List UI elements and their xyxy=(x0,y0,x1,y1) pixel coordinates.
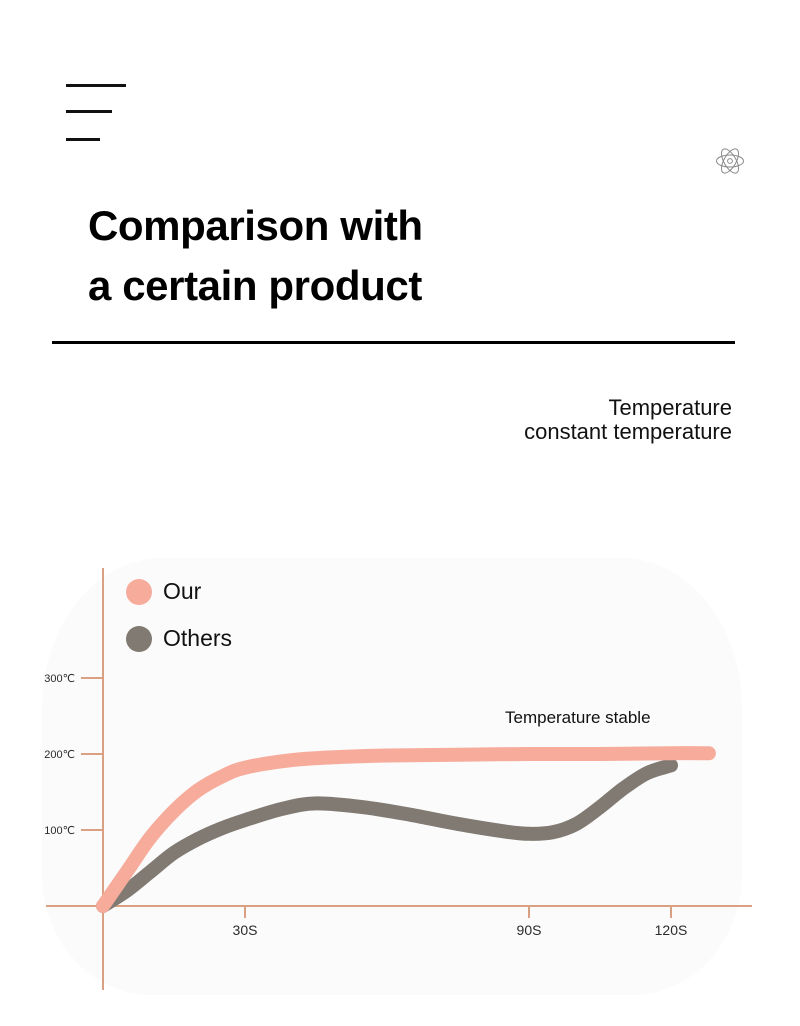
chart-canvas: 100℃200℃300℃ 30S90S120S xyxy=(0,540,800,990)
series-line-others xyxy=(103,765,671,906)
atom-icon xyxy=(714,145,746,177)
x-tick-label-120: 120S xyxy=(655,922,688,938)
legend-item-our[interactable]: Our xyxy=(126,568,366,615)
subtitle-block: Temperature constant temperature xyxy=(212,396,732,444)
y-tick-label-300: 300℃ xyxy=(44,673,75,685)
rule-line-3 xyxy=(66,138,100,141)
legend-item-others[interactable]: Others xyxy=(126,615,366,662)
legend-swatch-our xyxy=(126,579,152,605)
stacked-rules-icon xyxy=(66,78,136,148)
legend-label-our: Our xyxy=(163,580,201,603)
rule-line-1 xyxy=(66,84,126,87)
subtitle-line-1: Temperature xyxy=(212,396,732,420)
legend-swatch-others xyxy=(126,626,152,652)
subtitle-line-2: constant temperature xyxy=(212,420,732,444)
x-tick-label-30: 30S xyxy=(233,922,258,938)
y-axis-ticks: 100℃200℃300℃ xyxy=(44,673,103,837)
rule-line-2 xyxy=(66,110,112,113)
y-tick-label-100: 100℃ xyxy=(44,825,75,837)
series-line-our xyxy=(103,753,709,906)
page-title: Comparison with a certain product xyxy=(88,196,708,315)
temperature-comparison-chart: 100℃200℃300℃ 30S90S120S Our Others Tempe… xyxy=(0,540,800,990)
x-axis-ticks: 30S90S120S xyxy=(233,906,688,938)
chart-annotation-temperature-stable: Temperature stable xyxy=(505,708,651,728)
legend-label-others: Others xyxy=(163,627,232,650)
x-tick-label-90: 90S xyxy=(517,922,542,938)
chart-legend: Our Others xyxy=(126,568,366,662)
title-divider xyxy=(52,341,735,344)
y-tick-label-200: 200℃ xyxy=(44,749,75,761)
